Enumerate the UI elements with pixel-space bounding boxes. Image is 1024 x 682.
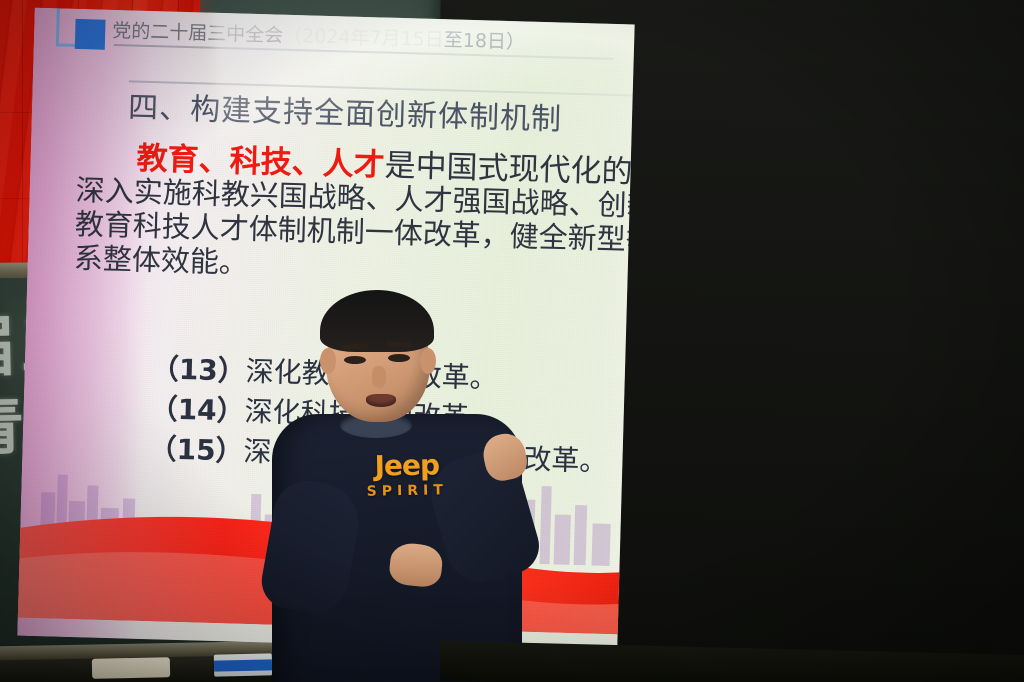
left-ear (320, 348, 336, 374)
slide-logo-icon (56, 8, 111, 52)
speaker-figure: Jeep SPIRIT (262, 286, 562, 682)
jeep-logo: Jeep SPIRIT (352, 451, 463, 500)
mouth (366, 394, 396, 407)
jeep-spirit-text: SPIRIT (352, 482, 462, 500)
screenshot-root: 届三中全会精 青春奋进力 宣讲人： 机电工 时间:2024年 (0, 0, 1024, 682)
left-eye (344, 356, 366, 364)
list-item-number: （14） (149, 392, 245, 428)
slide-body: 教育、科技、人才是中国式现代化的基础 深入实施科教兴国战略、人才强国战略、创新驱… (73, 141, 634, 293)
nose (372, 366, 386, 388)
hair (320, 290, 434, 352)
jeep-wordmark: Jeep (352, 451, 462, 481)
board-eraser[interactable] (92, 657, 170, 679)
list-item-number: （15） (148, 432, 244, 468)
right-eye (388, 354, 410, 362)
screen-glare (212, 8, 635, 135)
list-item-number: （13） (150, 352, 246, 388)
right-ear (420, 348, 436, 374)
